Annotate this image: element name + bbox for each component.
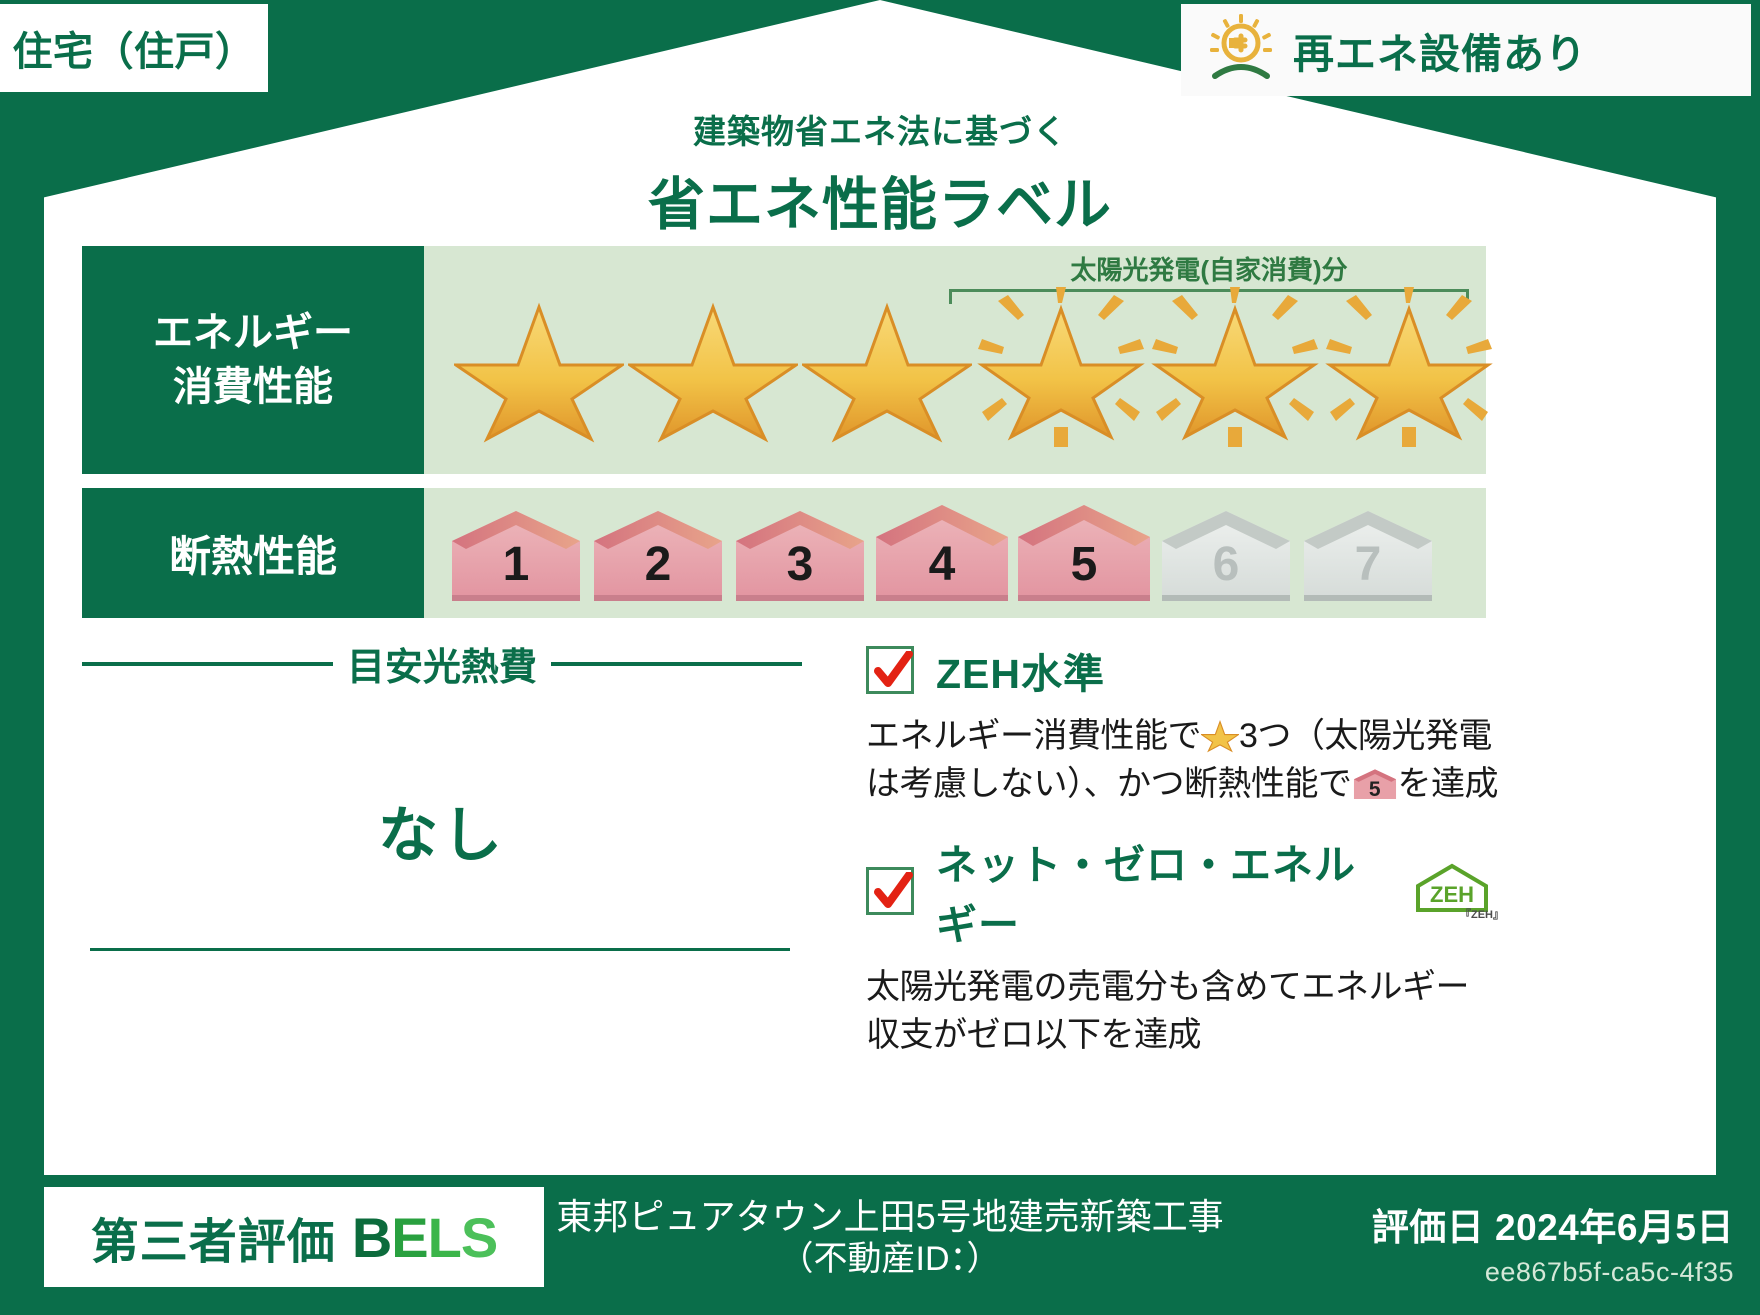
bels-jp-label: 第三者評価 xyxy=(91,1202,336,1272)
net-zero-energy-description: 太陽光発電の売電分も含めてエネルギー 収支がゼロ以下を達成 xyxy=(866,963,1506,1060)
svg-text:『ZEH』: 『ZEH』 xyxy=(1460,907,1504,920)
category-badge: 住宅（住戸） xyxy=(0,4,268,92)
category-badge-label: 住宅（住戸） xyxy=(13,19,256,77)
star-icon-solar xyxy=(1150,287,1320,447)
evaluation-info: 評価日 2024年6月5日 ee867b5f-ca5c-4f35 xyxy=(1372,1197,1734,1288)
net-zero-energy-check-row: ネット・ゼロ・エネルギー ZEH 『ZEH』 xyxy=(866,831,1506,951)
insulation-grade-scale: 1 2 3 xyxy=(446,496,1456,608)
grade-number: 6 xyxy=(1156,537,1296,592)
project-name: 東邦ピュアタウン上田5号地建売新築工事 xyxy=(540,1195,1240,1239)
zeh-standard-checkbox[interactable] xyxy=(866,646,914,694)
inline-grade-house-icon: 5 xyxy=(1352,765,1398,803)
star-icon xyxy=(628,287,798,447)
energy-performance-label: エネルギー 消費性能 xyxy=(82,246,424,474)
solar-bracket-label: 太陽光発電(自家消費)分 xyxy=(949,250,1469,287)
star-icon xyxy=(802,287,972,447)
grade-number: 5 xyxy=(1014,537,1154,592)
page-title: 省エネ性能ラベル xyxy=(0,159,1760,241)
grade-house-icon: 3 xyxy=(730,503,870,608)
star-icon-solar xyxy=(1324,287,1494,447)
grade-house-icon: 5 xyxy=(1014,503,1154,608)
zeh-logo-icon: ZEH 『ZEH』 xyxy=(1410,862,1506,920)
star-icon-solar xyxy=(976,287,1146,447)
grade-number: 7 xyxy=(1298,537,1438,592)
sun-plug-icon xyxy=(1205,12,1277,89)
net-zero-energy-checkbox[interactable] xyxy=(866,867,914,915)
zeh-standard-description: エネルギー消費性能で3つ（太陽光発電 は考慮しない）、かつ断熱性能で5を達成 xyxy=(866,712,1506,809)
bels-badge: 第三者評価 BELS xyxy=(44,1187,544,1287)
energy-performance-body: 太陽光発電(自家消費)分 xyxy=(424,246,1486,474)
insulation-performance-row: 断熱性能 xyxy=(82,488,1486,618)
grade-house-icon: 7 xyxy=(1298,503,1438,608)
grade-number: 2 xyxy=(588,537,728,592)
utility-cost-heading: 目安光熱費 xyxy=(82,636,802,691)
grade-house-icon: 1 xyxy=(446,503,586,608)
bels-logo: BELS xyxy=(352,1205,497,1270)
utility-cost-value: なし xyxy=(82,787,802,874)
energy-performance-row: エネルギー 消費性能 太陽光発電(自家消費)分 xyxy=(82,246,1486,474)
grade-number: 1 xyxy=(446,537,586,592)
zeh-standard-label: ZEH水準 xyxy=(936,640,1105,700)
net-zero-energy-label: ネット・ゼロ・エネルギー xyxy=(936,831,1380,951)
utility-cost-title: 目安光熱費 xyxy=(347,636,537,691)
utility-cost-rule xyxy=(90,948,790,951)
zeh-criteria-block: ZEH水準 エネルギー消費性能で3つ（太陽光発電 は考慮しない）、かつ断熱性能で… xyxy=(866,640,1506,1081)
evaluation-code: ee867b5f-ca5c-4f35 xyxy=(1372,1257,1734,1288)
grade-number: 4 xyxy=(872,537,1012,592)
zeh-standard-check-row: ZEH水準 xyxy=(866,640,1506,700)
title-subtitle: 建築物省エネ法に基づく xyxy=(0,105,1760,153)
evaluation-date: 評価日 2024年6月5日 xyxy=(1372,1197,1734,1251)
grade-number: 3 xyxy=(730,537,870,592)
footer: 第三者評価 BELS 東邦ピュアタウン上田5号地建売新築工事 （不動産ID：） … xyxy=(0,1175,1760,1315)
renewable-equipment-badge: 再エネ設備あり xyxy=(1181,4,1751,96)
insulation-performance-body: 1 2 3 xyxy=(424,488,1486,618)
project-info: 東邦ピュアタウン上田5号地建売新築工事 （不動産ID：） xyxy=(540,1195,1240,1280)
grade-house-icon: 6 xyxy=(1156,503,1296,608)
inline-star-icon xyxy=(1201,717,1239,753)
insulation-performance-label: 断熱性能 xyxy=(82,488,424,618)
inline-grade-number: 5 xyxy=(1352,775,1398,805)
title-block: 建築物省エネ法に基づく 省エネ性能ラベル xyxy=(0,105,1760,241)
energy-star-rating xyxy=(454,284,1484,449)
svg-text:ZEH: ZEH xyxy=(1430,882,1474,907)
utility-cost-block: 目安光熱費 なし xyxy=(82,636,802,874)
renewable-badge-label: 再エネ設備あり xyxy=(1293,20,1587,80)
grade-house-icon: 2 xyxy=(588,503,728,608)
star-icon xyxy=(454,287,624,447)
project-realestate-id: （不動産ID：） xyxy=(540,1239,1240,1280)
grade-house-icon: 4 xyxy=(872,503,1012,608)
